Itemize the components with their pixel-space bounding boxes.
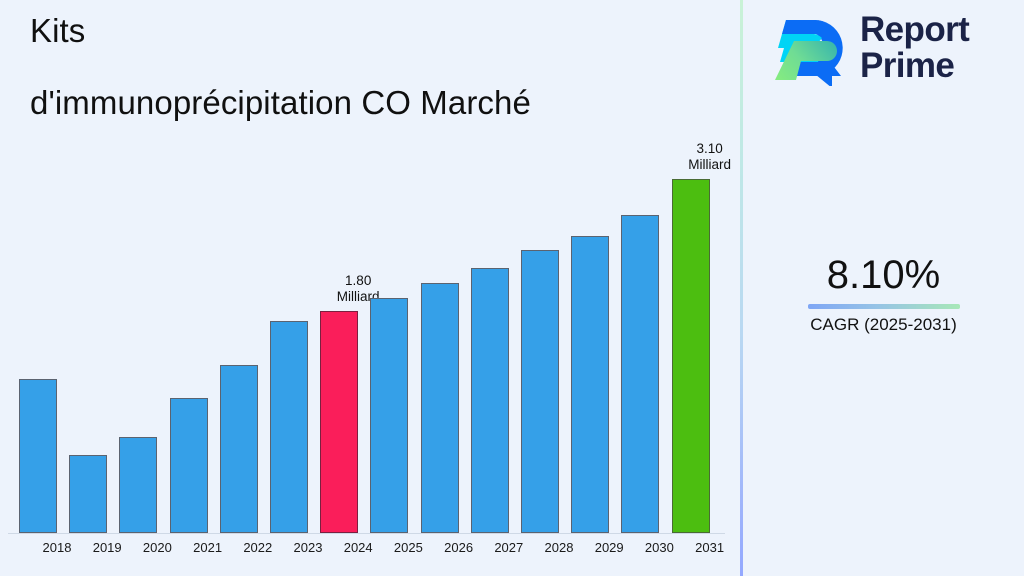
bar-chart-plot: 20182019202020212022202320241.80Milliard…	[0, 0, 740, 576]
cagr-divider-rule	[808, 304, 960, 309]
bar-value-number-2024: 1.80	[308, 273, 408, 289]
cagr-caption: CAGR (2025-2031)	[743, 314, 1024, 336]
bar-2019[interactable]	[69, 455, 107, 533]
bar-2030[interactable]	[621, 215, 659, 533]
cagr-block: 8.10% CAGR (2025-2031)	[743, 252, 1024, 336]
right-panel: Report Prime 8.10% CAGR (2025-2031)	[743, 0, 1024, 576]
bar-2026[interactable]	[421, 283, 459, 533]
bar-2020[interactable]	[119, 437, 157, 533]
bar-2022[interactable]	[220, 365, 258, 533]
x-axis-line	[8, 533, 725, 534]
bar-2031[interactable]	[672, 179, 710, 533]
bar-2018[interactable]	[19, 379, 57, 533]
chart-panel: Kits d'immunoprécipitation CO Marché 201…	[0, 0, 740, 576]
report-prime-logo-mark-icon	[770, 14, 850, 86]
bar-2024[interactable]	[320, 311, 358, 533]
bar-2028[interactable]	[521, 250, 559, 533]
cagr-value: 8.10%	[743, 252, 1024, 298]
bar-2025[interactable]	[370, 298, 408, 533]
bar-2021[interactable]	[170, 398, 208, 533]
logo-text-line-2: Prime	[860, 48, 969, 84]
logo-text-line-1: Report	[860, 12, 969, 48]
page-root: Kits d'immunoprécipitation CO Marché 201…	[0, 0, 1024, 576]
bar-2027[interactable]	[471, 268, 509, 533]
report-prime-logo: Report Prime	[770, 10, 1020, 90]
bar-2023[interactable]	[270, 321, 308, 533]
x-axis-label-2031: 2031	[680, 540, 740, 555]
report-prime-logo-text: Report Prime	[860, 12, 969, 84]
bar-2029[interactable]	[571, 236, 609, 533]
